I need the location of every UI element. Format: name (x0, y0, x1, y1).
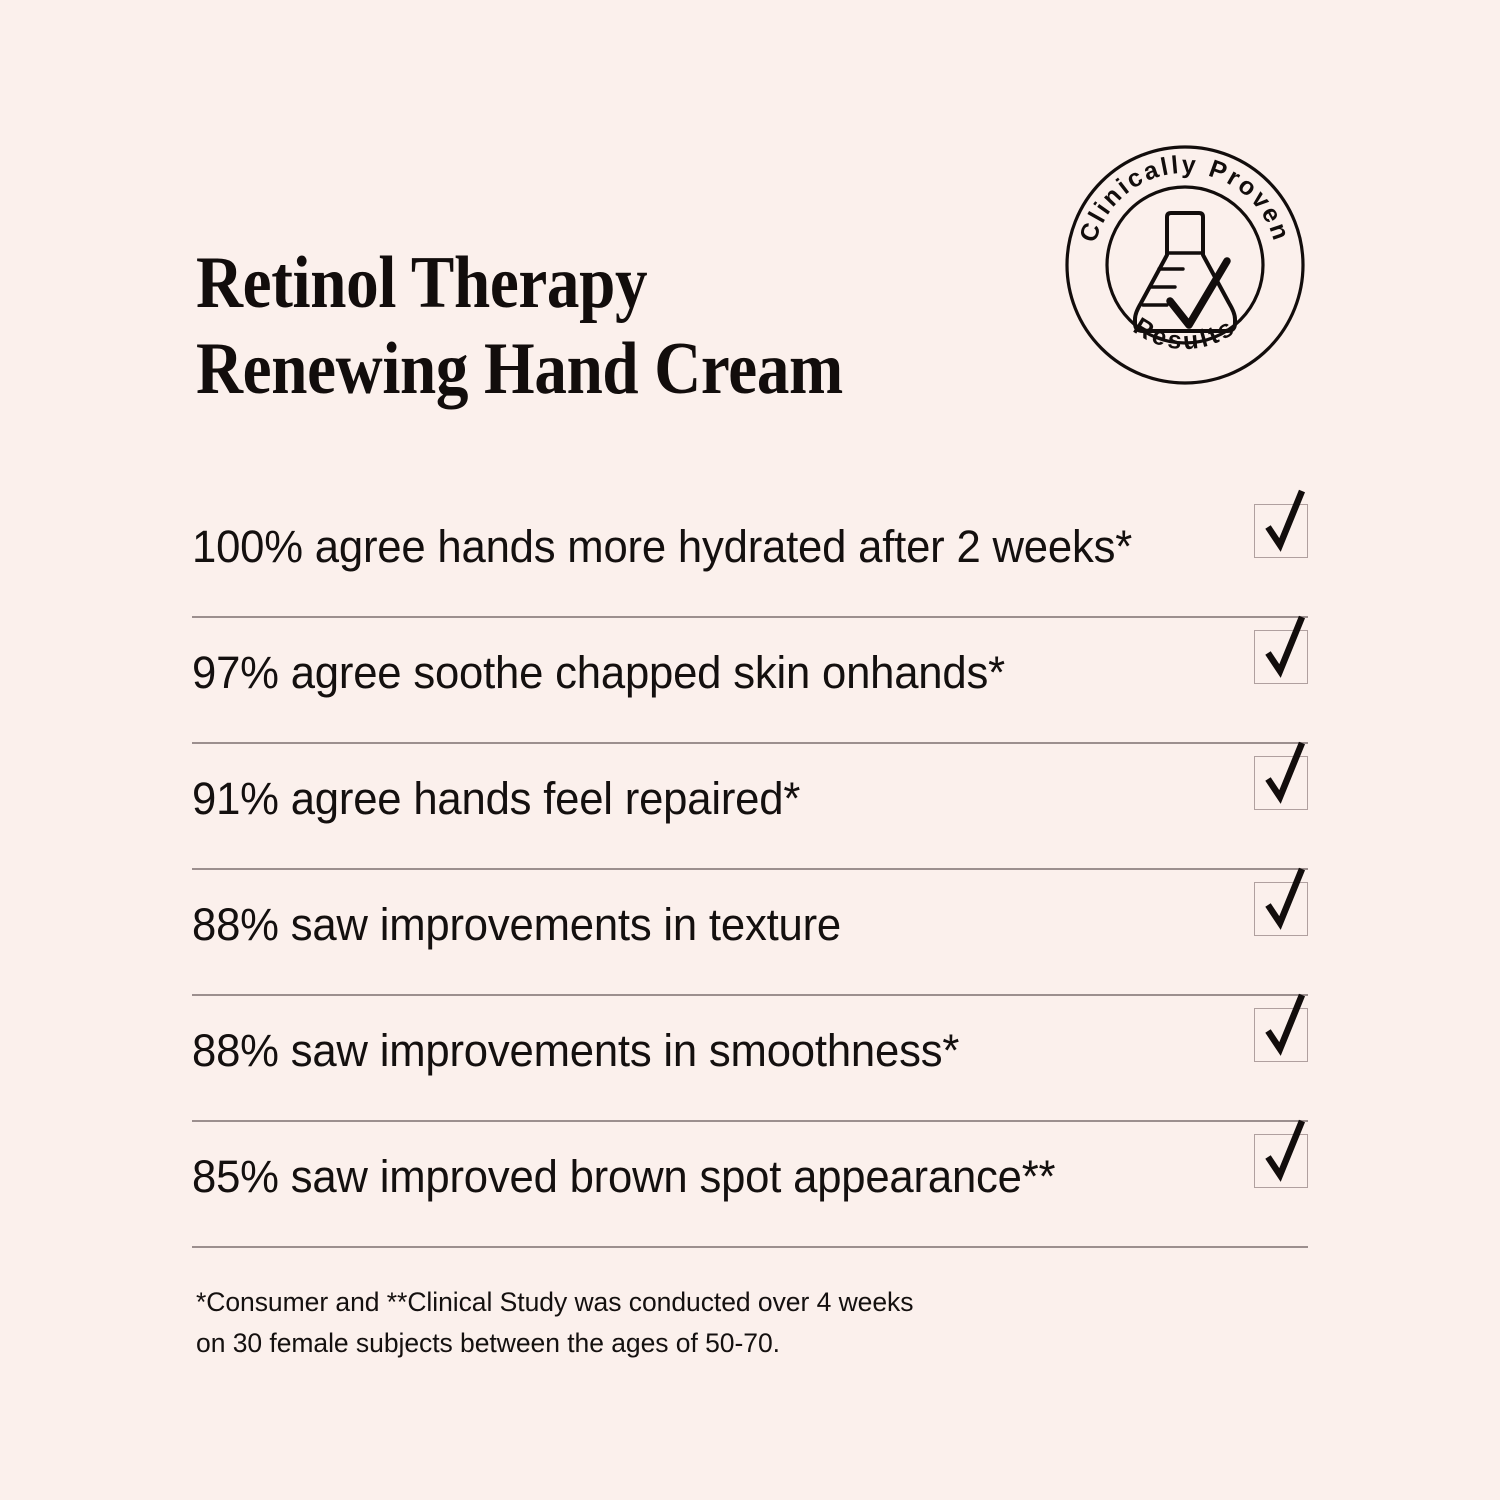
claim-row: 100% agree hands more hydrated after 2 w… (192, 492, 1308, 618)
claim-checkbox[interactable] (1254, 504, 1308, 558)
clinically-proven-badge: Clinically Proven Results (1063, 143, 1307, 387)
title-line-2: Renewing Hand Cream (196, 326, 918, 412)
page-title: Retinol Therapy Renewing Hand Cream (196, 240, 1016, 412)
claim-text: 100% agree hands more hydrated after 2 w… (192, 521, 1132, 587)
claim-text: 88% saw improvements in smoothness* (192, 1025, 959, 1091)
claim-row: 88% saw improvements in texture (192, 870, 1308, 996)
product-claims-page: Clinically Proven Results Retinol Therap… (0, 0, 1500, 1500)
claim-text: 91% agree hands feel repaired* (192, 773, 800, 839)
claim-text: 97% agree soothe chapped skin onhands* (192, 647, 1005, 713)
badge-top-arc-text: Clinically Proven (1074, 151, 1296, 246)
checkmark-icon (1258, 741, 1312, 811)
claim-text: 88% saw improvements in texture (192, 899, 841, 965)
footnote-line-1: *Consumer and **Clinical Study was condu… (196, 1282, 1096, 1323)
checkmark-icon (1258, 1119, 1312, 1189)
footnote-line-2: on 30 female subjects between the ages o… (196, 1323, 1096, 1364)
claim-row: 91% agree hands feel repaired* (192, 744, 1308, 870)
title-line-1: Retinol Therapy (196, 240, 918, 326)
claim-checkbox[interactable] (1254, 882, 1308, 936)
checkmark-icon (1258, 993, 1312, 1063)
claims-list: 100% agree hands more hydrated after 2 w… (192, 492, 1308, 1248)
claim-text: 85% saw improved brown spot appearance** (192, 1151, 1055, 1217)
checkmark-icon (1258, 867, 1312, 937)
checkmark-icon (1258, 489, 1312, 559)
checkmark-icon (1258, 615, 1312, 685)
claim-row: 97% agree soothe chapped skin onhands* (192, 618, 1308, 744)
claim-checkbox[interactable] (1254, 756, 1308, 810)
claim-checkbox[interactable] (1254, 630, 1308, 684)
claim-row: 85% saw improved brown spot appearance** (192, 1122, 1308, 1248)
claim-row: 88% saw improvements in smoothness* (192, 996, 1308, 1122)
claim-checkbox[interactable] (1254, 1134, 1308, 1188)
footnote: *Consumer and **Clinical Study was condu… (196, 1282, 1096, 1364)
claim-checkbox[interactable] (1254, 1008, 1308, 1062)
